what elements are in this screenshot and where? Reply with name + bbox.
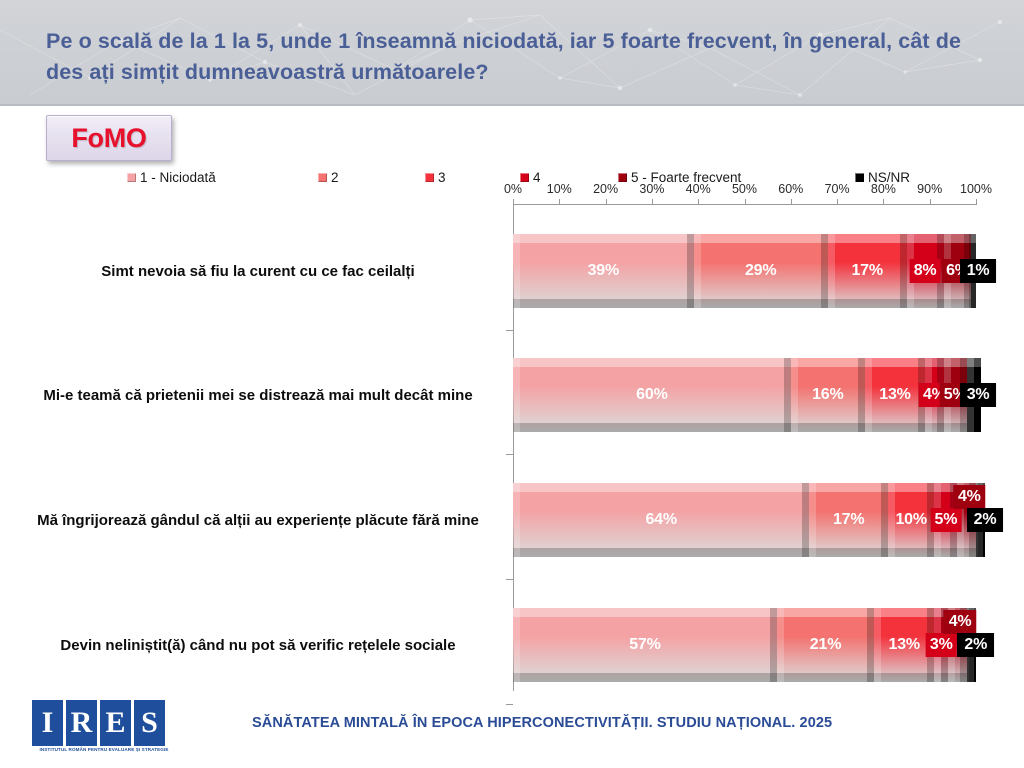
bar-row-1: 39%29%17%8%6%1% <box>513 234 976 308</box>
bar-bevel <box>694 234 701 308</box>
bar-segment-r2-s2[interactable]: 16% <box>791 358 865 432</box>
x-axis-tick-label: 80% <box>871 182 896 196</box>
category-label-3: Mă îngrijorează gândul că alții au exper… <box>18 510 498 531</box>
slide-root: Pe o scală de la 1 la 5, unde 1 înseamnă… <box>0 0 1024 768</box>
page-title: Pe o scală de la 1 la 5, unde 1 înseamnă… <box>46 26 986 88</box>
x-axis-tick-mark <box>606 199 607 205</box>
ires-logo-letter-r: R <box>66 700 97 746</box>
bar-bevel <box>694 299 828 308</box>
bar-bevel <box>809 483 816 557</box>
slide-header: Pe o scală de la 1 la 5, unde 1 înseamnă… <box>0 0 1024 105</box>
bar-bevel <box>513 673 777 682</box>
bar-bevel <box>888 483 895 557</box>
bar-value-label: 21% <box>810 636 841 654</box>
x-axis-tick-mark <box>745 199 746 205</box>
bar-bevel <box>821 234 828 308</box>
x-axis-tick-mark <box>883 199 884 205</box>
bar-bevel <box>881 483 888 557</box>
bar-segment-r4-s2[interactable]: 21% <box>777 608 874 682</box>
x-axis-tick-label: 10% <box>547 182 572 196</box>
ires-logo: INSTITUTUL ROMÂN PENTRU EVALUARE ȘI STRA… <box>32 700 174 756</box>
x-axis-tick-label: 50% <box>732 182 757 196</box>
bar-bevel <box>687 234 694 308</box>
bar-bevel <box>809 483 888 492</box>
bar-value-label: 17% <box>851 262 882 280</box>
bar-segment-r1-s2[interactable]: 29% <box>694 234 828 308</box>
bar-bevel <box>791 423 865 432</box>
bar-bevel <box>777 608 874 617</box>
ires-logo-letter-e: E <box>100 700 131 746</box>
ires-logo-letter-s: S <box>134 700 165 746</box>
bar-bevel <box>513 608 777 617</box>
category-label-2: Mi-e teamă că prietenii mei se distrează… <box>18 385 498 406</box>
x-axis-tick-label: 20% <box>593 182 618 196</box>
header-divider <box>0 104 1024 106</box>
x-axis-tick-label: 30% <box>639 182 664 196</box>
x-axis-tick-label: 60% <box>778 182 803 196</box>
ires-logo-letter-glyph: R <box>71 706 93 740</box>
legend-swatch-icon <box>127 173 136 182</box>
bar-segment-r3-s1[interactable]: 64% <box>513 483 809 557</box>
fomo-badge: FoMO <box>46 115 172 161</box>
bar-bevel <box>828 299 907 308</box>
bar-bevel <box>828 234 907 243</box>
bar-bevel <box>874 608 881 682</box>
bar-segment-r1-s3[interactable]: 17% <box>828 234 907 308</box>
bar-bevel <box>513 358 791 367</box>
bar-value-label: 16% <box>812 386 843 404</box>
bar-bevel <box>802 483 809 557</box>
legend-swatch-icon <box>855 173 864 182</box>
bar-segment-r1-s4[interactable]: 8% <box>907 234 944 308</box>
bar-value-label: 5% <box>931 508 962 532</box>
bar-value-label: 13% <box>879 386 910 404</box>
bar-value-label: 3% <box>960 383 997 407</box>
x-axis-tick-mark <box>652 199 653 205</box>
bar-bevel <box>865 358 872 432</box>
x-axis-tick-label: 70% <box>825 182 850 196</box>
bar-bevel <box>828 234 835 308</box>
bar-segment-r2-s3[interactable]: 13% <box>865 358 925 432</box>
bar-bevel <box>694 234 828 243</box>
bar-bevel <box>513 608 520 682</box>
bar-segment-r4-s1[interactable]: 57% <box>513 608 777 682</box>
fomo-badge-label: FoMO <box>71 123 146 154</box>
x-axis-tick-label: 100% <box>960 182 992 196</box>
bar-bevel <box>809 548 888 557</box>
bar-bevel <box>791 358 865 367</box>
bar-value-label: 4% <box>944 610 977 634</box>
bar-bevel <box>513 548 809 557</box>
bar-value-label: 64% <box>645 511 676 529</box>
ires-logo-letter-glyph: E <box>105 706 125 740</box>
bar-value-label: 2% <box>957 633 994 657</box>
bar-bevel <box>791 358 798 432</box>
footer-caption: SĂNĂTATEA MINTALĂ ÎN EPOCA HIPERCONECTIV… <box>252 715 832 731</box>
bar-bevel <box>513 299 694 308</box>
bar-row-3: 64%17%10%5%4%2% <box>513 483 976 557</box>
bar-bevel <box>777 608 784 682</box>
x-axis-tick-mark <box>791 199 792 205</box>
bar-value-label: 10% <box>895 511 926 529</box>
ires-logo-letter-glyph: I <box>42 706 54 740</box>
bar-value-label: 8% <box>910 259 941 283</box>
ires-logo-letter-i: I <box>32 700 63 746</box>
bar-bevel <box>513 234 520 308</box>
bar-value-label: 3% <box>926 633 957 657</box>
bar-segment-r3-s3[interactable]: 10% <box>888 483 934 557</box>
bar-bevel <box>513 423 791 432</box>
bar-value-label: 57% <box>629 636 660 654</box>
legend-swatch-icon <box>425 173 434 182</box>
bar-bevel <box>777 673 874 682</box>
bar-value-label: 29% <box>745 262 776 280</box>
x-axis-tick-label: 0% <box>504 182 522 196</box>
bar-bevel <box>784 358 791 432</box>
bar-segment-r1-s1[interactable]: 39% <box>513 234 694 308</box>
bar-bevel <box>867 608 874 682</box>
bar-row-4: 57%21%13%3%4%2% <box>513 608 976 682</box>
bar-value-label: 2% <box>967 508 1004 532</box>
bar-value-label: 60% <box>636 386 667 404</box>
bar-bevel <box>874 608 934 617</box>
bar-value-label: 13% <box>889 636 920 654</box>
y-axis-category-tick <box>506 330 513 331</box>
legend-swatch-icon <box>618 173 627 182</box>
y-axis-category-tick <box>506 704 513 705</box>
bar-bevel <box>858 358 865 432</box>
y-axis-category-tick <box>506 579 513 580</box>
bar-bevel <box>513 483 809 492</box>
x-axis-labels: 0%10%20%30%40%50%60%70%80%90%100% <box>0 182 1024 198</box>
x-axis-tick-mark <box>976 199 977 205</box>
x-axis-tick-mark <box>837 199 838 205</box>
ires-logo-tagline: INSTITUTUL ROMÂN PENTRU EVALUARE ȘI STRA… <box>34 747 174 752</box>
bar-bevel <box>770 608 777 682</box>
bar-value-label: 4% <box>953 485 986 509</box>
category-label-4: Devin neliniștit(ă) când nu pot să verif… <box>18 635 498 656</box>
bar-value-label: 1% <box>960 259 997 283</box>
bar-segment-r1-s6[interactable]: 1% <box>971 234 976 308</box>
bar-bevel <box>513 234 694 243</box>
bar-value-label: 39% <box>588 262 619 280</box>
bar-bevel <box>865 423 925 432</box>
y-axis-category-tick <box>506 454 513 455</box>
x-axis-tick-mark <box>698 199 699 205</box>
bar-bevel <box>513 358 520 432</box>
category-label-1: Simt nevoia să fiu la curent cu ce fac c… <box>18 261 498 282</box>
x-axis-tick-label: 90% <box>917 182 942 196</box>
bar-bevel <box>513 483 520 557</box>
bar-bevel <box>874 673 934 682</box>
bar-segment-r3-s2[interactable]: 17% <box>809 483 888 557</box>
x-axis-tick-label: 40% <box>686 182 711 196</box>
bar-segment-r2-s6[interactable]: 3% <box>967 358 981 432</box>
legend-swatch-icon <box>318 173 327 182</box>
bar-value-label: 17% <box>833 511 864 529</box>
x-axis-tick-mark <box>513 199 514 205</box>
x-axis-tick-mark <box>559 199 560 205</box>
bar-bevel <box>865 358 925 367</box>
bar-segment-r2-s1[interactable]: 60% <box>513 358 791 432</box>
bar-row-2: 60%16%13%4%5%3% <box>513 358 976 432</box>
ires-logo-letter-glyph: S <box>141 706 158 740</box>
legend-swatch-icon <box>520 173 529 182</box>
x-axis-tick-mark <box>930 199 931 205</box>
bar-bevel <box>900 234 907 308</box>
